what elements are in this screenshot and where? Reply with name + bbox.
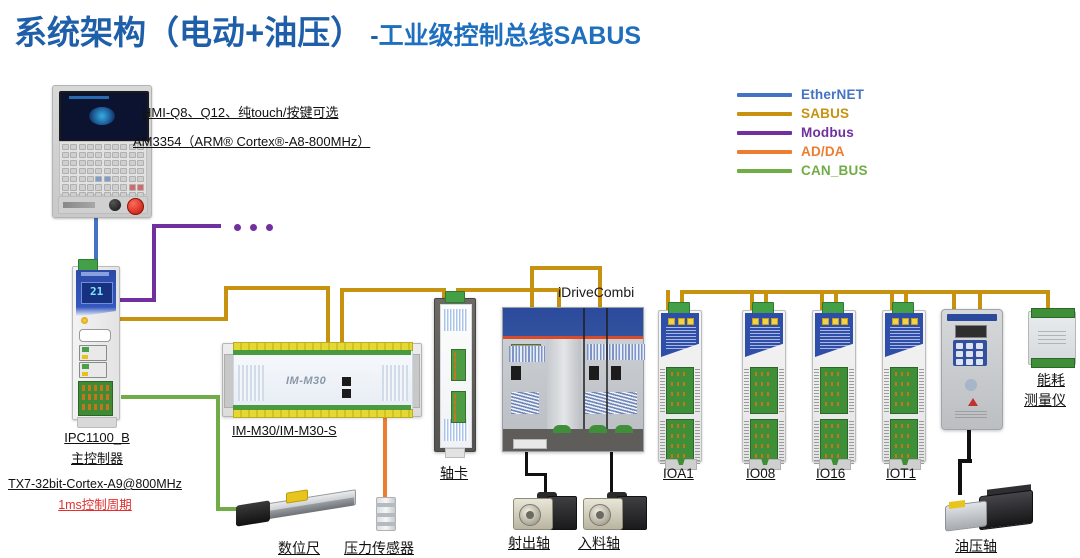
hmi-key-row (62, 152, 144, 159)
idrive-green-terminal-3 (615, 425, 633, 433)
legend-swatch-modbus (737, 131, 792, 135)
idrive-circuit-art1 (511, 392, 539, 414)
vfd-brand-bar (947, 314, 997, 321)
io-header-panel (885, 313, 923, 357)
legend-item-sabus: SABUS (737, 104, 868, 123)
idrive-port-slot3 (611, 366, 621, 380)
ipc-header-panel (76, 270, 116, 310)
cable-feed-axis-v (610, 450, 613, 497)
io-label-strip-a-right (779, 367, 784, 412)
idrive-base-connector (513, 439, 547, 449)
io-label-strip-b (744, 419, 749, 464)
ipc1100b-controller[interactable] (72, 266, 120, 420)
pressure-sensor-band-mid (376, 513, 396, 517)
vfd-logo (958, 378, 984, 392)
cable-vfd-to-pump-v1 (967, 428, 971, 462)
hmi-emergency-stop-button[interactable] (127, 198, 144, 215)
ipc-usb-port[interactable] (79, 329, 111, 342)
io-terminal-block-a (820, 367, 848, 414)
wire-adda-imm30-to-sensor (383, 410, 387, 502)
im-m30-pattern-left (238, 365, 264, 401)
io-label-ioa1: IOA1 (663, 466, 694, 481)
axis-card-module[interactable] (434, 298, 476, 452)
io-terminal-block-b (666, 419, 694, 466)
hmi-panel[interactable] (52, 85, 152, 218)
diagram-canvas: 系统架构（电动+油压） -工业级控制总线SABUS EtherNET SABUS… (0, 0, 1080, 556)
pressure-sensor (376, 497, 396, 531)
servo-motor-body (513, 498, 553, 530)
io-status-leds (892, 318, 918, 325)
idrive-green-terminal-1 (553, 425, 571, 433)
io-label-strip-b (884, 419, 889, 464)
hmi-key-row (62, 144, 144, 151)
axis-card-foot (445, 448, 465, 458)
page-title: 系统架构（电动+油压） -工业级控制总线SABUS (14, 6, 641, 54)
energy-meter-terminal-top (1031, 308, 1075, 318)
io-label-strip-b-right (849, 419, 854, 464)
io-silkscreen (750, 327, 780, 349)
legend-swatch-sabus (737, 112, 792, 116)
legend-label-adda: AD/DA (801, 144, 845, 159)
io-label-strip-b-right (919, 419, 924, 464)
idrive-port-slot2 (589, 366, 599, 380)
io-module-iot1[interactable] (882, 310, 926, 462)
wire-sabus-top-3 (456, 288, 561, 292)
wire-sabus-top-1 (224, 286, 330, 290)
legend-label-canbus: CAN_BUS (801, 163, 868, 178)
servo-motor-inject (513, 492, 575, 528)
digital-scale-head (236, 500, 270, 526)
idrive-combi-label: iDriveCombi (558, 284, 634, 300)
im-m30-module[interactable]: IM-M30 (222, 343, 422, 417)
io-label-strip-a (884, 367, 889, 412)
legend-item-adda: AD/DA (737, 142, 868, 161)
io-label-strip-a (814, 367, 819, 412)
wire-sabus-trunk-top (530, 266, 602, 270)
io-silkscreen (890, 327, 920, 349)
servo-motor-body (583, 498, 623, 530)
wire-canbus-h-top (121, 395, 220, 399)
io-status-leds (822, 318, 848, 325)
hmi-key-row (62, 176, 144, 183)
ipc-foot (77, 417, 117, 428)
wire-modbus-h-upper (152, 224, 221, 228)
io-terminal-block-b (820, 419, 848, 466)
ipc-ethernet-port-1[interactable] (79, 345, 107, 361)
vfd-display (955, 325, 987, 338)
io-label-strip-a-right (849, 367, 854, 412)
energy-meter-module[interactable] (1028, 311, 1076, 365)
energy-meter-label-line1: 能耗 (1012, 370, 1080, 390)
vfd-label-text (955, 409, 987, 418)
energy-meter-silkscreen (1038, 330, 1066, 344)
ipc-cycle-label: 1ms控制周期 (0, 494, 190, 513)
hmi-cpu-label: AM3354（ARM® Cortex®-A8-800MHz） (133, 131, 370, 150)
io-header-panel (745, 313, 783, 357)
hydraulic-axis-label: 油压轴 (955, 536, 997, 556)
io-module-io08[interactable] (742, 310, 786, 462)
im-m30-connector-a (342, 377, 351, 386)
modbus-ellipsis-dot-3 (266, 224, 273, 231)
pressure-sensor-band-bottom (376, 522, 396, 526)
im-m30-terminal-strip-bottom (233, 409, 413, 418)
legend-swatch-adda (737, 150, 792, 154)
hydraulic-pump-motor (941, 489, 1041, 533)
idrive-circuit-art3 (609, 392, 637, 414)
legend-swatch-ethernet (737, 93, 792, 97)
hmi-model-label: HMI-Q8、Q12、纯touch/按键可选 (142, 102, 339, 121)
feed-axis-label: 入料轴 (578, 533, 620, 553)
title-dash: - (363, 22, 378, 50)
legend-swatch-canbus (737, 169, 792, 173)
servo-motor-shaft (589, 504, 611, 526)
io-label-iot1: IOT1 (886, 466, 916, 481)
idrive-vent-slot1 (509, 346, 545, 362)
wire-sabus-riser-1 (224, 286, 228, 321)
io-label-io16: IO16 (816, 466, 845, 481)
digital-scale-sensor (236, 489, 354, 527)
inject-axis-label: 射出轴 (508, 533, 550, 553)
io-header-panel (815, 313, 853, 357)
wire-sabus-idrive-up (530, 266, 534, 308)
hmi-key-row (62, 168, 144, 175)
im-m30-pattern-right (382, 365, 408, 401)
io-terminal-block-a (750, 367, 778, 414)
io-status-leds (668, 318, 694, 325)
hmi-brand-logo (63, 202, 95, 208)
io-label-strip-a (660, 367, 665, 412)
axis-card-top-connector (445, 291, 465, 303)
pressure-sensor-band-top (376, 503, 396, 507)
io-module-ioa1[interactable] (658, 310, 702, 462)
io-label-strip-b (660, 419, 665, 464)
hmi-key-row (62, 160, 144, 167)
axis-card-vent-top (444, 309, 468, 331)
io-label-strip-a-right (695, 367, 700, 412)
io-silkscreen (666, 327, 696, 349)
title-main: 系统架构（电动+油压） (14, 14, 363, 51)
io-header-panel (661, 313, 699, 357)
idrive-top-cover (503, 308, 643, 336)
digital-scale-label: 数位尺 (278, 538, 320, 558)
idrive-port-slot1 (511, 366, 521, 380)
hydraulic-pump-motor-body (979, 490, 1033, 531)
io-label-io08: IO08 (746, 466, 775, 481)
axis-card-terminal-2 (451, 391, 466, 423)
legend-item-canbus: CAN_BUS (737, 161, 868, 180)
ipc-status-led (81, 317, 88, 324)
wire-sabus-drop-imm30 (326, 286, 330, 350)
io-label-strip-a-right (919, 367, 924, 412)
ipc-cpu-label: TX7-32bit-Cortex-A9@800MHz (0, 477, 190, 491)
hmi-key-row (62, 184, 144, 191)
wire-sabus-hop-5 (970, 290, 1050, 294)
wire-canbus-v (216, 395, 220, 511)
legend-label-sabus: SABUS (801, 106, 849, 121)
idrive-combi-unit[interactable] (502, 307, 644, 452)
idrive-green-terminal-2 (589, 425, 607, 433)
wire-sabus-drop-vfd-a (952, 290, 956, 310)
io-status-leds (752, 318, 778, 325)
legend-item-modbus: Modbus (737, 123, 868, 142)
io-terminal-block-b (750, 419, 778, 466)
legend-item-ethernet: EtherNET (737, 85, 868, 104)
ipc-lcd-display (81, 282, 113, 304)
legend-label-modbus: Modbus (801, 125, 854, 140)
im-m30-label: IM-M30/IM-M30-S (232, 423, 337, 438)
hmi-bottom-bar (58, 196, 148, 214)
io-silkscreen (820, 327, 850, 349)
io-terminal-block-b (890, 419, 918, 466)
im-m30-connector-b (342, 389, 351, 398)
axis-card-terminal-1 (451, 349, 466, 381)
legend-label-ethernet: EtherNET (801, 87, 864, 102)
io-terminal-block-a (666, 367, 694, 414)
modbus-ellipsis-dot-1 (234, 224, 241, 231)
ipc-brand-logo (81, 272, 109, 276)
servo-motor-shaft (519, 504, 541, 526)
io-label-strip-a (744, 367, 749, 412)
im-m30-green-rail-top (233, 350, 411, 355)
axis-card-faceplate (440, 304, 472, 448)
energy-meter-label-line2: 测量仪 (1006, 390, 1080, 410)
io-label-strip-b (814, 419, 819, 464)
energy-meter-terminal-bottom (1031, 358, 1075, 368)
pressure-sensor-label: 压力传感器 (344, 538, 414, 558)
hmi-black-button[interactable] (109, 199, 121, 211)
vfd-warning-icon (968, 398, 978, 406)
axis-card-label: 轴卡 (440, 463, 468, 483)
ipc-terminal-block (78, 381, 113, 416)
io-label-strip-b-right (695, 419, 700, 464)
title-subtitle: 工业级控制总线SABUS (379, 22, 642, 50)
im-m30-green-rail-bottom (233, 405, 411, 410)
im-m30-silkscreen: IM-M30 (286, 375, 326, 387)
io-label-strip-b-right (779, 419, 784, 464)
io-module-io16[interactable] (812, 310, 856, 462)
wire-sabus-hop-1 (684, 290, 754, 294)
wire-modbus-v (152, 224, 156, 302)
ipc-ethernet-port-2[interactable] (79, 362, 107, 378)
vfd-inverter[interactable] (941, 309, 1003, 430)
idrive-vent-slot3 (609, 344, 645, 360)
ipc-name-label: IPC1100_B (52, 430, 142, 445)
servo-motor-feed (583, 492, 645, 528)
ipc-role-label: 主控制器 (52, 448, 142, 467)
modbus-ellipsis-dot-2 (250, 224, 257, 231)
legend: EtherNET SABUS Modbus AD/DA CAN_BUS (737, 85, 868, 180)
vfd-keypad[interactable] (953, 340, 987, 366)
io-terminal-block-a (890, 367, 918, 414)
wire-sabus-top-2 (340, 288, 446, 292)
wire-sabus-drop-vfd-b (978, 290, 982, 310)
